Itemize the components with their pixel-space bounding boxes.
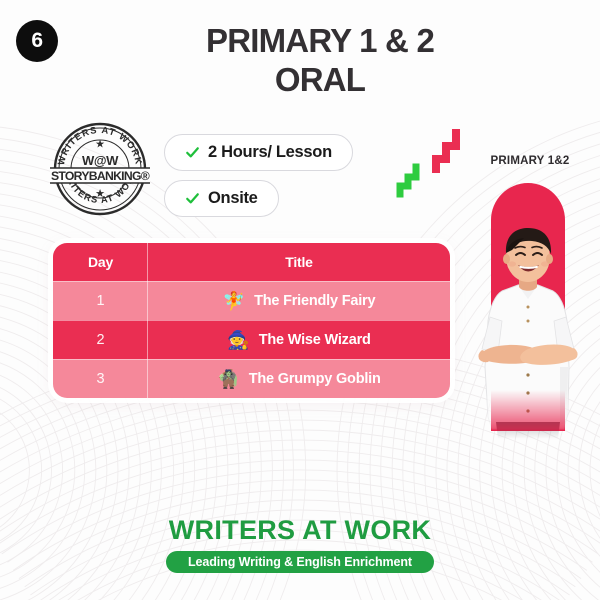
step-number-text: 6 [31, 29, 42, 53]
table-header-cell-title: Title [148, 243, 450, 281]
step-number-badge: 6 [16, 20, 58, 62]
title-line-primary: PRIMARY 1 & 2 [120, 22, 520, 61]
column-header-day: Day [88, 254, 113, 270]
fairy-emoji: 🧚 [223, 292, 245, 310]
student-photo-block: PRIMARY 1&2 [460, 155, 600, 440]
stamp-star-top: ★ [95, 139, 105, 151]
column-header-title: Title [285, 254, 313, 270]
table-header-cell-day: Day [53, 243, 148, 281]
stamp-center-text: W@W [82, 153, 119, 168]
brand-tagline: Leading Writing & English Enrichment [166, 551, 434, 573]
table-cell-day: 2 [53, 320, 148, 359]
lesson-title: The Grumpy Goblin [249, 371, 381, 387]
title-line-subject: ORAL [120, 61, 520, 100]
lesson-title: The Friendly Fairy [254, 293, 375, 309]
table-header-row: Day Title [53, 243, 450, 281]
brand-name: WRITERS AT WORK [0, 515, 600, 546]
stamp-band-text: STORYBANKING® [51, 169, 150, 183]
table-row[interactable]: 1 🧚 The Friendly Fairy [53, 281, 450, 320]
table-cell-title: 🧌 The Grumpy Goblin [148, 359, 450, 398]
student-photo [468, 217, 590, 439]
poster-canvas: 6 PRIMARY 1 & 2 ORAL WRITERS AT WORK WRI… [0, 0, 600, 600]
storybanking-stamp-icon: WRITERS AT WORK WRITERS AT WORK ★ ★ W@W … [48, 117, 152, 221]
day-number: 3 [96, 371, 104, 387]
goblin-emoji: 🧌 [217, 370, 239, 388]
photo-caption: PRIMARY 1&2 [460, 155, 600, 167]
info-pill-duration-label: 2 Hours/ Lesson [208, 143, 332, 162]
zigzag-green-decoration [394, 162, 424, 198]
table-cell-day: 1 [53, 281, 148, 320]
table-row[interactable]: 2 🧙 The Wise Wizard [53, 320, 450, 359]
brand-footer: WRITERS AT WORK Leading Writing & Englis… [0, 515, 600, 573]
table-row[interactable]: 3 🧌 The Grumpy Goblin [53, 359, 450, 398]
page-title: PRIMARY 1 & 2 ORAL [120, 22, 520, 99]
zigzag-red-decoration [428, 128, 464, 174]
table-cell-title: 🧙 The Wise Wizard [148, 320, 450, 359]
lesson-title: The Wise Wizard [259, 332, 371, 348]
info-pill-mode-label: Onsite [208, 189, 258, 208]
check-icon [185, 191, 200, 206]
table-cell-title: 🧚 The Friendly Fairy [148, 281, 450, 320]
info-pill-duration[interactable]: 2 Hours/ Lesson [164, 134, 353, 171]
info-pill-mode[interactable]: Onsite [164, 180, 279, 217]
stamp-star-bottom: ★ [95, 188, 105, 200]
day-number: 1 [96, 293, 104, 309]
day-number: 2 [96, 332, 104, 348]
schedule-table: Day Title 1 🧚 The Friendly Fairy 2 🧙 The… [53, 243, 450, 398]
wizard-hat-emoji: 🧙 [227, 331, 249, 349]
table-cell-day: 3 [53, 359, 148, 398]
check-icon [185, 145, 200, 160]
